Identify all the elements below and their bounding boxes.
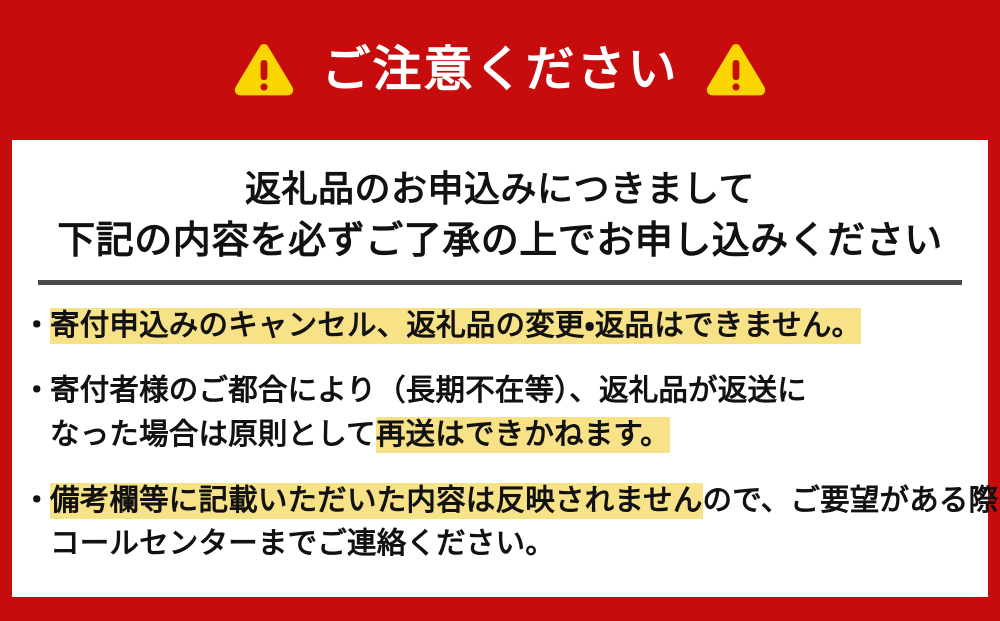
bullet-line: 備考欄等に記載いただいた内容は反映されませんので、ご要望がある際は	[50, 479, 988, 523]
plain-text: 寄付者様のご都合により（長期不在等）、返礼品が返送に	[50, 374, 807, 407]
subtitle-line-1: 返礼品のお申込みにつきまして	[12, 163, 988, 214]
bullet-line: 寄付申込みのキャンセル、返礼品の変更・返品はできません。	[50, 304, 988, 348]
highlighted-text: 再送はできかねます。	[376, 417, 670, 453]
bullet-line: 寄付者様のご都合により（長期不在等）、返礼品が返送に	[50, 369, 988, 413]
bullet-body: 寄付者様のご都合により（長期不在等）、返礼品が返送になった場合は原則として再送は…	[26, 369, 988, 456]
highlighted-text: 備考欄等に記載いただいた内容は反映されません	[50, 483, 703, 519]
bullet-marker: ・	[22, 369, 52, 413]
notice-bullet-item: ・備考欄等に記載いただいた内容は反映されませんので、ご要望がある際はコールセンタ…	[12, 479, 988, 566]
notice-bullet-item: ・寄付者様のご都合により（長期不在等）、返礼品が返送になった場合は原則として再送…	[12, 369, 988, 456]
warning-triangle-icon	[705, 42, 767, 98]
plain-text: コールセンターまでご連絡ください。	[50, 527, 555, 560]
bullet-body: 備考欄等に記載いただいた内容は反映されませんので、ご要望がある際はコールセンター…	[26, 479, 988, 566]
bullet-body: 寄付申込みのキャンセル、返礼品の変更・返品はできません。	[26, 304, 988, 348]
bullet-marker: ・	[22, 479, 52, 523]
subtitle-block: 返礼品のお申込みにつきまして 下記の内容を必ずご了承の上でお申し込みください	[12, 140, 988, 269]
plain-text: なった場合は原則として	[50, 418, 376, 451]
warning-triangle-icon	[233, 42, 295, 98]
notice-bullet-item: ・寄付申込みのキャンセル、返礼品の変更・返品はできません。	[12, 304, 988, 348]
highlighted-text: 寄付申込みのキャンセル、返礼品の変更・返品はできません。	[50, 308, 861, 344]
page-title: ご注意ください	[321, 46, 678, 95]
notice-bullet-list: ・寄付申込みのキャンセル、返礼品の変更・返品はできません。・寄付者様のご都合によ…	[12, 285, 988, 566]
bullet-marker: ・	[22, 304, 52, 348]
bullet-line: なった場合は原則として再送はできかねます。	[50, 413, 988, 457]
notice-header: ご注意ください	[0, 0, 1000, 140]
subtitle-line-2: 下記の内容を必ずご了承の上でお申し込みください	[12, 214, 988, 268]
plain-text: ので、ご要望がある際は	[703, 484, 1000, 517]
notice-card: 返礼品のお申込みにつきまして 下記の内容を必ずご了承の上でお申し込みください ・…	[12, 140, 988, 597]
bullet-line: コールセンターまでご連絡ください。	[50, 522, 988, 566]
notice-panel: ご注意ください 返礼品のお申込みにつきまして 下記の内容を必ずご了承の上でお申し…	[0, 0, 1000, 621]
